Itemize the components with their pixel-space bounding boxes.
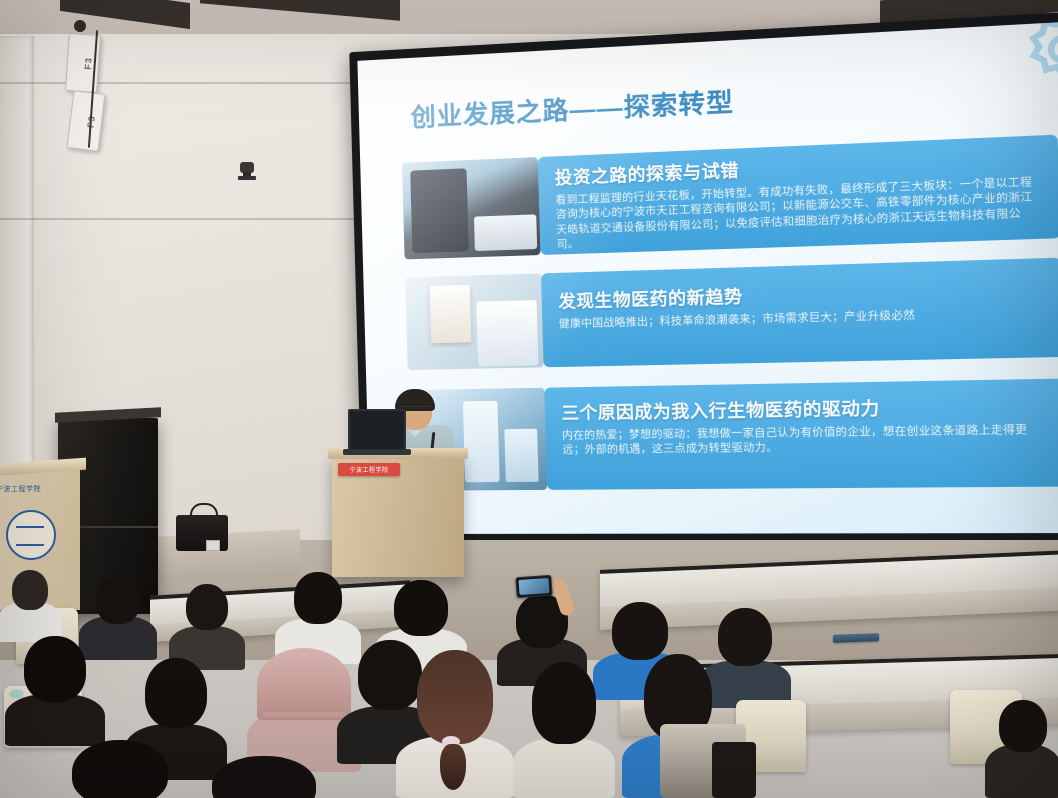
audience-head	[294, 572, 342, 624]
laptop	[348, 409, 406, 451]
block-panel-0: 投资之路的探索与试错 看到工程监理的行业天花板，开始转型。有成功有失败，最终形成…	[538, 135, 1058, 255]
audience-head	[999, 700, 1047, 752]
notebook-on-desk	[833, 633, 879, 643]
briefcase	[176, 515, 228, 551]
secondary-podium-label: 宁波工程学院	[0, 482, 72, 496]
briefcase-handle	[190, 503, 218, 519]
audience-head	[72, 740, 168, 798]
audience-head	[24, 636, 86, 702]
audience-head	[12, 570, 48, 610]
audience-member-ponytail	[400, 650, 510, 798]
audience-head	[532, 662, 596, 744]
audience-member	[200, 756, 328, 798]
main-podium: 宁波工程学院	[332, 455, 464, 577]
audience-head	[417, 650, 493, 744]
slide-block: 发现生物医药的新趋势 健康中国战略推出；科技革命浪潮袭来；市场需求巨大；产业升级…	[405, 258, 1058, 370]
audience-head	[394, 580, 448, 636]
phone-screen	[519, 578, 550, 595]
equipment-silhouette	[712, 742, 756, 798]
lab-team-photo	[405, 273, 543, 370]
laptop-base	[343, 449, 411, 455]
smartphone	[515, 575, 552, 598]
block-panel-1: 发现生物医药的新趋势 健康中国战略推出；科技革命浪潮袭来；市场需求巨大；产业升级…	[541, 258, 1058, 368]
slide-block: 三个原因成为我入行生物医药的驱动力 内在的热爱；梦想的驱动：我想做一家自己认为有…	[408, 379, 1058, 491]
audience-head	[612, 602, 668, 660]
audience-shoulders	[513, 738, 615, 798]
audience-member	[516, 662, 612, 798]
audience-shoulders	[985, 744, 1058, 798]
block-panel-2: 三个原因成为我入行生物医药的驱动力 内在的热爱；梦想的驱动：我想做一家自己认为有…	[544, 379, 1058, 490]
cap-brim	[263, 712, 345, 717]
lecture-hall-photo: F3 F3 创业发展之路——探索转型 投资之路的探索与试错	[0, 0, 1058, 798]
audience-head	[145, 658, 207, 728]
business-meeting-photo	[402, 157, 540, 259]
university-emblem	[6, 510, 56, 560]
block-body: 内在的热爱；梦想的驱动：我想做一家自己认为有价值的企业，想在创业这条道路上走得更…	[562, 422, 1051, 458]
audience-member	[60, 740, 180, 798]
laptop-lid	[348, 409, 406, 451]
camera-base	[238, 176, 256, 180]
block-thumbnail-0	[402, 157, 540, 259]
audience-member	[0, 568, 60, 638]
ponytail	[440, 744, 466, 790]
audience-head	[186, 584, 228, 630]
audience-member	[8, 636, 102, 740]
slide-title: 创业发展之路——探索转型	[410, 82, 734, 134]
pink-cap	[257, 648, 351, 720]
audience-head	[96, 576, 140, 624]
slide-block: 投资之路的探索与试错 看到工程监理的行业天花板，开始转型。有成功有失败，最终形成…	[402, 135, 1058, 260]
audience-member	[172, 584, 242, 662]
audience-member	[988, 700, 1058, 798]
speaker-mount	[74, 20, 86, 32]
ceiling-camera-icon	[238, 162, 256, 182]
hair-scrunchie	[10, 690, 23, 698]
block-heading: 三个原因成为我入行生物医药的驱动力	[561, 391, 1050, 425]
podium-nameplate: 宁波工程学院	[338, 463, 400, 476]
speaker-module-bottom: F3	[67, 90, 106, 151]
block-thumbnail-1	[405, 273, 543, 370]
audience-head	[212, 756, 316, 798]
gear-icon	[1019, 20, 1058, 91]
line-array-speaker-rig: F3 F3	[62, 20, 122, 160]
wall-outlet	[206, 540, 220, 551]
